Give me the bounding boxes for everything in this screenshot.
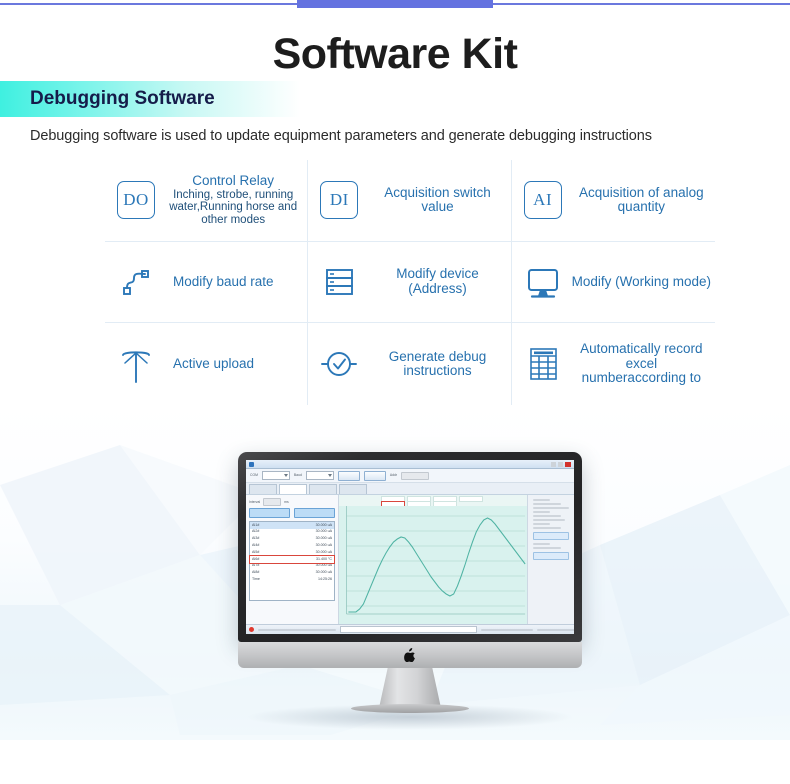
ai-value: 30.000 uA [316, 563, 332, 569]
ai-name: AI2# [252, 529, 259, 535]
apple-logo-icon [404, 648, 416, 662]
ai-name: AI3# [252, 536, 259, 542]
app-status-bar [246, 624, 574, 634]
feature-title: Modify (Working mode) [572, 275, 711, 290]
ai-left-panel[interactable]: Interval ms AI1#30.000 uA AI2#30.000 uA … [246, 495, 339, 634]
feature-title: Acquisition of analog quantity [572, 186, 711, 215]
section-banner-label: Debugging Software [30, 85, 215, 113]
server-stack-icon [312, 255, 366, 309]
feature-cell-acquisition-analog[interactable]: AI Acquisition of analog quantity [512, 160, 715, 242]
tab-do[interactable] [249, 484, 277, 494]
blurred-text-line [533, 547, 561, 549]
feature-text: Acquisition switch value [366, 186, 506, 215]
tab-setting[interactable] [339, 484, 367, 494]
minimize-icon[interactable] [551, 462, 556, 467]
side-action-button[interactable] [533, 552, 569, 560]
ai-value-list[interactable]: AI1#30.000 uA AI2#30.000 uA AI3#30.000 u… [249, 521, 335, 601]
ai-value: 14:25:26 [318, 577, 332, 583]
feature-cell-modify-baud-rate[interactable]: Modify baud rate [105, 242, 308, 324]
feature-text: Generate debug instructions [366, 350, 506, 379]
app-toolbar[interactable]: COM Baud Addr [246, 469, 574, 483]
imac-screen: COM Baud Addr [246, 460, 574, 634]
feature-text: Modify baud rate [163, 275, 303, 290]
ai-value: 31.400 °C [316, 557, 332, 563]
port-select[interactable] [262, 471, 290, 480]
di-badge-label: DI [320, 181, 358, 219]
feature-cell-auto-record-excel[interactable]: Automatically record excel numberaccordi… [512, 323, 715, 405]
status-indicator-icon [249, 627, 254, 632]
blurred-text-line [533, 507, 569, 509]
unit-label: ms [284, 500, 289, 505]
imac-stand-foot [351, 704, 469, 713]
status-center [481, 629, 533, 631]
ai-name: AI4# [252, 543, 259, 549]
app-icon [249, 462, 254, 467]
maximize-icon[interactable] [558, 462, 563, 467]
list-item[interactable]: AI1#30.000 uA [250, 522, 334, 529]
blurred-text-line [533, 527, 561, 529]
feature-text: Acquisition of analog quantity [570, 186, 711, 215]
ai-line-chart [339, 506, 527, 624]
ai-name: AI1# [252, 523, 259, 529]
blurred-text-line [533, 515, 561, 517]
list-item[interactable]: AI2#30.000 uA [250, 529, 334, 536]
list-item[interactable]: AI3#30.000 uA [250, 536, 334, 543]
ai-value: 30.000 uA [316, 570, 332, 576]
feature-cell-acquisition-switch-value[interactable]: DI Acquisition switch value [308, 160, 511, 242]
feature-text: Modify (Working mode) [570, 275, 711, 290]
open-button[interactable] [338, 471, 360, 481]
feature-text: Control Relay Inching, strobe, running w… [161, 174, 303, 226]
list-item[interactable]: AI5#30.000 uA [250, 549, 334, 556]
feature-cell-modify-working-mode[interactable]: Modify (Working mode) [512, 242, 715, 324]
hero-image: COM Baud Addr [0, 405, 790, 740]
app-body: Interval ms AI1#30.000 uA AI2#30.000 uA … [246, 495, 574, 634]
feature-title: Acquisition switch value [368, 186, 506, 215]
close-icon[interactable] [565, 462, 571, 467]
list-item[interactable]: AI8#30.000 uA [250, 569, 334, 576]
port-label: COM [250, 473, 258, 478]
refresh-button[interactable] [364, 471, 386, 481]
ai-name: AI5# [252, 550, 259, 556]
ai-value: 30.000 uA [316, 550, 332, 556]
feature-title: Generate debug instructions [368, 350, 506, 379]
feature-text: Modify device (Address) [366, 267, 506, 296]
imac-stand-neck [379, 668, 441, 708]
ai-name: Time [252, 577, 260, 583]
do-badge-icon: DO [109, 173, 163, 227]
blurred-text-line [533, 511, 550, 513]
feature-desc: Inching, strobe, running water,Running h… [163, 189, 303, 227]
upload-arrow-icon [109, 337, 163, 391]
addr-field[interactable] [401, 472, 429, 480]
side-action-button[interactable] [533, 532, 569, 540]
monitor-icon [516, 255, 570, 309]
feature-cell-control-relay[interactable]: DO Control Relay Inching, strobe, runnin… [105, 160, 308, 242]
ai-value: 30.000 uA [316, 543, 332, 549]
tab-di[interactable] [309, 484, 337, 494]
list-item[interactable]: Time14:25:26 [250, 576, 334, 583]
ai-badge-label: AI [524, 181, 562, 219]
feature-cell-modify-device[interactable]: Modify device (Address) [308, 242, 511, 324]
feature-title: Control Relay [163, 174, 303, 189]
ai-badge-icon: AI [516, 173, 570, 227]
spreadsheet-icon [516, 337, 570, 391]
feature-title: Modify baud rate [173, 275, 303, 290]
baud-rate-icon [109, 255, 163, 309]
section-subtitle: Debugging software is used to update equ… [30, 128, 652, 144]
feature-title: Automatically record excel numberaccordi… [572, 342, 711, 386]
page-title: Software Kit [0, 26, 790, 82]
baud-select[interactable] [306, 471, 334, 480]
interval-input[interactable] [263, 498, 281, 506]
list-item-highlighted[interactable]: AI6#31.400 °C [250, 556, 334, 563]
list-item[interactable]: AI4#30.000 uA [250, 542, 334, 549]
ai-value: 30.000 uA [316, 523, 332, 529]
ai-name: AI8# [252, 570, 259, 576]
debug-master-app[interactable]: COM Baud Addr [246, 460, 574, 634]
feature-grid: DO Control Relay Inching, strobe, runnin… [105, 160, 715, 405]
app-titlebar [246, 460, 574, 469]
status-progress [340, 626, 477, 633]
legend-item[interactable] [459, 496, 483, 502]
app-tab-bar[interactable] [246, 483, 574, 495]
addr-label: Addr [390, 473, 397, 478]
clear-button[interactable] [294, 508, 335, 518]
check-circle-icon [312, 337, 366, 391]
ai-value: 30.000 uA [316, 529, 332, 535]
do-badge-label: DO [117, 181, 155, 219]
di-badge-icon: DI [312, 173, 366, 227]
feature-title: Modify device (Address) [368, 267, 506, 296]
feature-cell-generate-debug-instructions[interactable]: Generate debug instructions [308, 323, 511, 405]
interval-label: Interval [249, 500, 260, 505]
ai-chart-panel [339, 495, 527, 634]
imac-device: COM Baud Addr [238, 452, 582, 698]
blurred-text-line [533, 503, 561, 505]
feature-cell-active-upload[interactable]: Active upload [105, 323, 308, 405]
start-button[interactable] [249, 508, 290, 518]
feature-title: Active upload [173, 357, 303, 372]
feature-text: Automatically record excel numberaccordi… [570, 342, 711, 386]
ai-name: AI6# [252, 557, 259, 563]
ai-name: AI7# [252, 563, 259, 569]
blurred-text-line [533, 523, 550, 525]
blurred-text-line [533, 499, 550, 501]
baud-label: Baud [294, 473, 302, 478]
feature-text: Active upload [163, 357, 303, 372]
tab-ai[interactable] [279, 484, 307, 494]
list-item[interactable]: AI7#30.000 uA [250, 563, 334, 570]
ai-value: 30.000 uA [316, 536, 332, 542]
status-message [258, 629, 336, 631]
top-accent-tab [297, 0, 493, 8]
status-right [537, 629, 574, 631]
app-right-panel[interactable] [527, 495, 574, 634]
blurred-text-line [533, 519, 565, 521]
blurred-text-line [533, 543, 550, 545]
